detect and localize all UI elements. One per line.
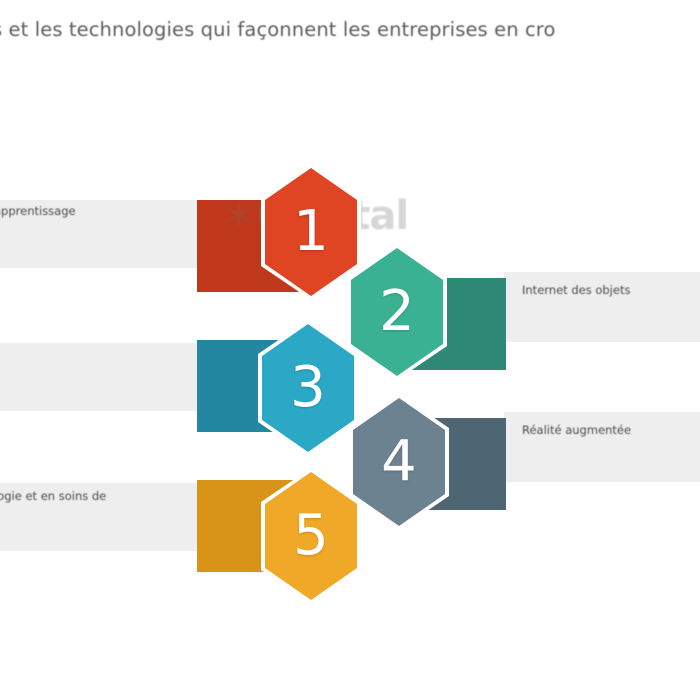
hex-number-5: 5	[293, 508, 329, 564]
label-text-4: Réalité augmentée	[522, 423, 631, 437]
label-text-1: apprentissage	[0, 204, 76, 218]
hex-number-4: 4	[381, 434, 417, 490]
hex-number-1: 1	[293, 204, 329, 260]
label-text-2: Internet des objets	[522, 283, 630, 297]
hex-number-3: 3	[290, 360, 326, 416]
page-title: s et les technologies qui façonnent les …	[0, 18, 700, 41]
infographic-canvas: s et les technologies qui façonnent les …	[0, 0, 700, 700]
label-text-5: logie et en soins de	[0, 489, 106, 503]
hex-number-2: 2	[379, 284, 415, 340]
label-band-3	[0, 343, 200, 411]
